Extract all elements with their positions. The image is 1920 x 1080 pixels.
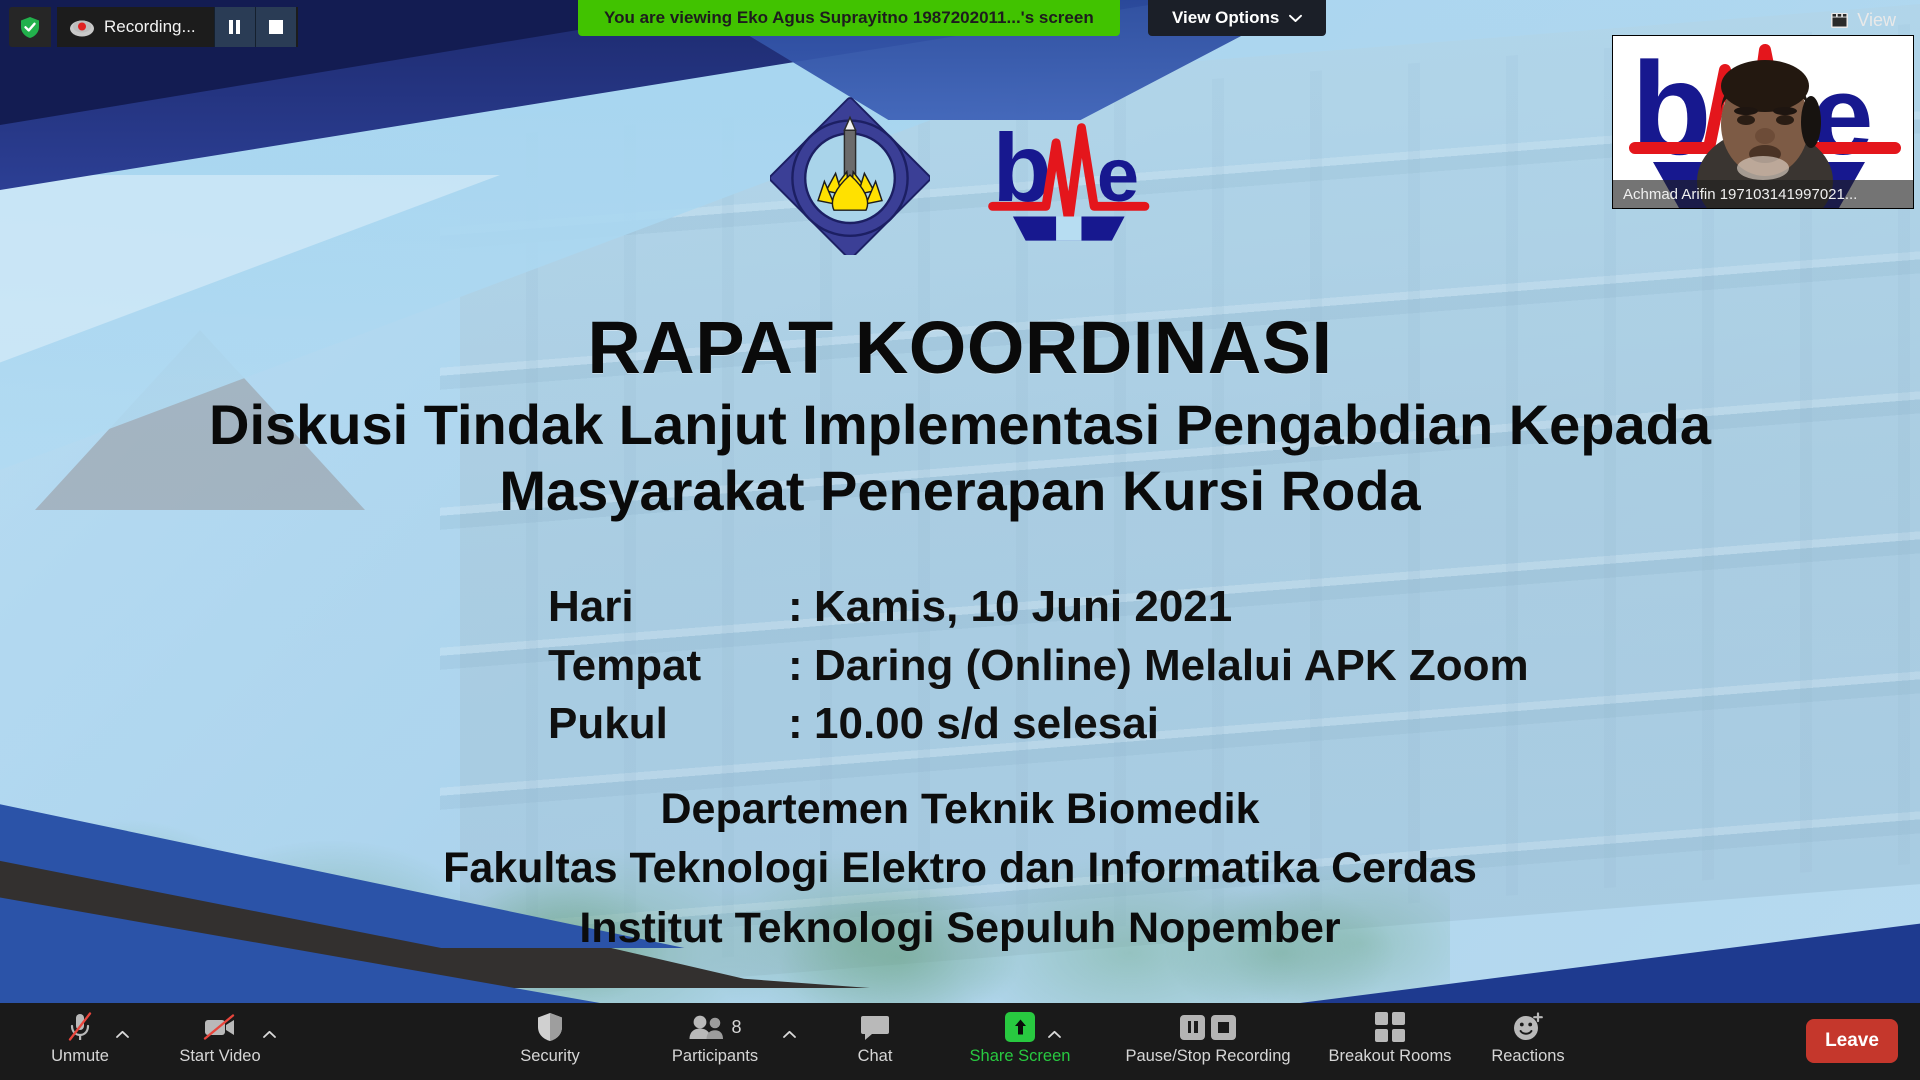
meeting-security-shield-button[interactable]: [9, 7, 51, 47]
detail-label: Pukul: [548, 695, 788, 754]
chevron-up-icon: [1048, 1030, 1061, 1039]
recording-label: Pause/Stop Recording: [1125, 1047, 1290, 1066]
detail-label: Hari: [548, 578, 788, 637]
security-button[interactable]: Security: [495, 1011, 605, 1073]
slide-subtitle-line: Diskusi Tindak Lanjut Implementasi Penga…: [60, 392, 1860, 458]
detail-colon: :: [788, 578, 814, 637]
shield-icon: [537, 1011, 563, 1043]
self-view-thumbnail[interactable]: b e: [1613, 36, 1913, 208]
slide-details: Hari : Kamis, 10 Juni 2021 Tempat : Dari…: [548, 578, 1529, 754]
video-options-caret[interactable]: [260, 1025, 278, 1043]
participants-options-caret[interactable]: [780, 1025, 798, 1043]
meeting-toolbar: Unmute Start Video: [0, 1003, 1920, 1080]
detail-colon: :: [788, 695, 814, 754]
view-button-label: View: [1857, 10, 1896, 31]
breakout-rooms-label: Breakout Rooms: [1329, 1047, 1452, 1066]
share-screen-arrow-icon: [1005, 1011, 1035, 1043]
participants-count: 8: [731, 1017, 741, 1038]
zoom-meeting-window: b e RAPAT KOORDINASI Diskusi Tindak Lanj…: [0, 0, 1920, 1080]
slide-footer-line: Departemen Teknik Biomedik: [0, 780, 1920, 839]
breakout-rooms-grid-icon: [1375, 1011, 1405, 1043]
view-options-label: View Options: [1172, 8, 1279, 28]
reactions-button[interactable]: Reactions: [1448, 1011, 1608, 1073]
chat-bubble-icon: [860, 1011, 890, 1043]
pause-icon: [1180, 1015, 1205, 1040]
its-logo: [770, 95, 930, 255]
pause-stop-recording-icon: [1180, 1011, 1236, 1043]
view-layout-button[interactable]: View: [1821, 6, 1906, 34]
reactions-label: Reactions: [1491, 1047, 1564, 1066]
recording-status-text: Recording...: [104, 17, 214, 37]
bme-logo: b e: [985, 109, 1150, 244]
detail-value: Kamis, 10 Juni 2021: [814, 578, 1232, 637]
smiley-plus-icon: [1512, 1011, 1544, 1043]
self-view-participant-name: Achmad Arifin 197103141997021...: [1613, 180, 1913, 208]
detail-colon: :: [788, 637, 814, 696]
view-options-button[interactable]: View Options: [1148, 0, 1326, 36]
video-off-icon: [202, 1011, 238, 1043]
microphone-muted-icon: [65, 1011, 95, 1043]
recording-indicator-group: Recording...: [57, 7, 298, 47]
detail-row: Tempat : Daring (Online) Melalui APK Zoo…: [548, 637, 1529, 696]
participants-label: Participants: [672, 1047, 758, 1066]
participants-icon-group: 8: [688, 1011, 741, 1043]
chevron-up-icon: [263, 1030, 276, 1039]
chat-label: Chat: [858, 1047, 893, 1066]
slide-title: RAPAT KOORDINASI: [0, 305, 1920, 390]
grid-view-icon: [1831, 13, 1848, 28]
chevron-up-icon: [116, 1030, 129, 1039]
stop-icon: [269, 20, 283, 34]
audio-options-caret[interactable]: [113, 1025, 131, 1043]
screen-share-banner: You are viewing Eko Agus Suprayitno 1987…: [578, 0, 1120, 36]
slide-subtitle-line: Masyarakat Penerapan Kursi Roda: [60, 458, 1860, 524]
shield-check-icon: [20, 16, 40, 39]
security-label: Security: [520, 1047, 580, 1066]
slide-subtitle: Diskusi Tindak Lanjut Implementasi Penga…: [0, 392, 1920, 523]
participants-icon: [688, 1014, 724, 1040]
start-video-label: Start Video: [179, 1047, 260, 1066]
share-screen-button[interactable]: Share Screen: [940, 1011, 1100, 1073]
recording-toolbar: Recording...: [9, 7, 298, 47]
detail-row: Pukul : 10.00 s/d selesai: [548, 695, 1529, 754]
share-screen-label: Share Screen: [970, 1047, 1071, 1066]
recording-dot-icon: [69, 18, 95, 37]
detail-value: 10.00 s/d selesai: [814, 695, 1159, 754]
detail-row: Hari : Kamis, 10 Juni 2021: [548, 578, 1529, 637]
slide-footer: Departemen Teknik Biomedik Fakultas Tekn…: [0, 780, 1920, 958]
detail-value: Daring (Online) Melalui APK Zoom: [814, 637, 1529, 696]
leave-button[interactable]: Leave: [1806, 1019, 1898, 1063]
stop-icon: [1211, 1015, 1236, 1040]
slide-footer-line: Fakultas Teknologi Elektro dan Informati…: [0, 839, 1920, 898]
pause-recording-button[interactable]: [214, 7, 255, 47]
unmute-label: Unmute: [51, 1047, 109, 1066]
participants-button[interactable]: 8 Participants: [645, 1011, 785, 1073]
share-options-caret[interactable]: [1045, 1025, 1063, 1043]
detail-label: Tempat: [548, 637, 788, 696]
pause-icon: [229, 20, 240, 34]
slide-footer-line: Institut Teknologi Sepuluh Nopember: [0, 899, 1920, 958]
chat-button[interactable]: Chat: [820, 1011, 930, 1073]
svg-text:b: b: [1631, 36, 1712, 182]
chevron-up-icon: [783, 1030, 796, 1039]
stop-recording-button[interactable]: [255, 7, 296, 47]
chevron-down-icon: [1289, 14, 1302, 23]
